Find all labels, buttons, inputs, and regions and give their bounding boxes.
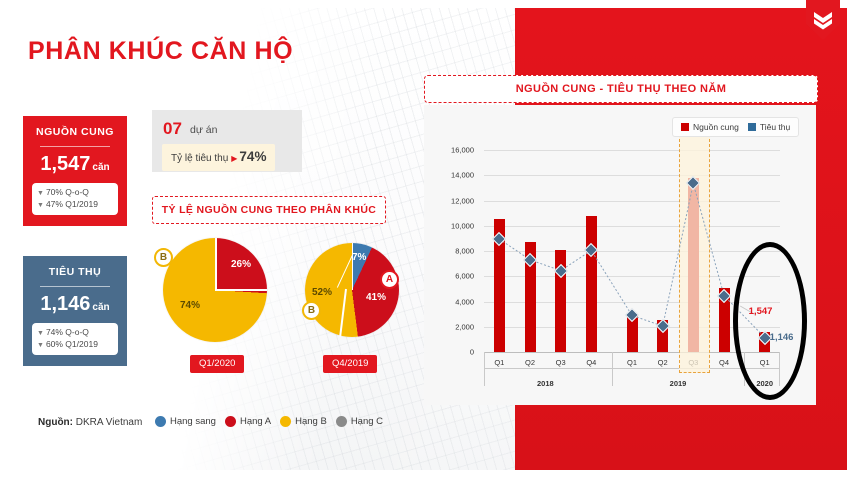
chart-legend: Nguồn cung Tiêu thụ [672, 117, 799, 137]
chart-title: NGUỒN CUNG - TIÊU THỤ THEO NĂM [516, 83, 727, 95]
pie-chart-q1-2020: 26% 74% B Q1/2020 [163, 238, 267, 342]
chart-highlight-band-q3-2019 [679, 134, 710, 373]
chart-x-tick-label: Q2 [525, 358, 535, 367]
legend-label-hang-sang: Hạng sang [170, 416, 216, 427]
segment-section-heading: TỶ LỆ NGUỒN CUNG THEO PHÂN KHÚC [152, 196, 386, 224]
segment-section-heading-text: TỶ LỆ NGUỒN CUNG THEO PHÂN KHÚC [162, 204, 376, 216]
pie-q4-2019-gap-bottom [339, 289, 346, 337]
chart-group-separator [612, 352, 613, 386]
chart-y-tick-label: 16,000 [414, 146, 474, 155]
chart-y-tick-label: 14,000 [414, 171, 474, 180]
supply-card-chips: ▼70% Q-o-Q ▼47% Q1/2019 [32, 183, 118, 215]
shield-logo [806, 0, 840, 40]
pie-q1-2020-badge-b: B [154, 248, 173, 267]
pie-q4-2019-label-hang-a: 41% [366, 292, 386, 303]
stat-card-absorption: TIÊU THỤ 1,146căn ▼74% Q-o-Q ▼60% Q1/201… [23, 256, 127, 366]
chart-y-tick-label: 8,000 [414, 247, 474, 256]
legend-item-hang-sang: Hạng sang [155, 416, 216, 427]
pie-q4-2019-badge-b: B [302, 301, 321, 320]
chart-annotation-supply: 1,547 [749, 306, 773, 317]
pie-chart-q4-2019: 7% 41% 52% A B Q4/2019 [305, 243, 399, 337]
chart-x-tick-label: Q3 [556, 358, 566, 367]
absorption-card-title: TIÊU THỤ [29, 266, 121, 278]
project-count: 07 [163, 119, 182, 139]
down-triangle-icon: ▼ [37, 202, 44, 209]
down-triangle-icon: ▼ [37, 342, 44, 349]
absorption-chip-yoy: ▼60% Q1/2019 [37, 339, 113, 351]
supply-chip-yoy: ▼47% Q1/2019 [37, 199, 113, 211]
chart-plot-area: 02,0004,0006,0008,00010,00012,00014,0001… [484, 150, 780, 352]
absorption-card-unit: căn [92, 302, 109, 313]
chart-gridline [484, 201, 780, 202]
chart-annotation-absorption: 1,146 [770, 332, 794, 343]
legend-label-hang-c: Hạng C [351, 416, 383, 427]
absorption-rate-label: Tỷ lệ tiêu thụ [171, 153, 228, 164]
chart-x-tick-label: Q4 [586, 358, 596, 367]
segment-legend: Hạng sang Hạng A Hạng B Hạng C [155, 416, 383, 427]
supply-card-value: 1,547 [40, 153, 90, 175]
legend-dot-icon [280, 416, 291, 427]
legend-swatch-icon [681, 123, 689, 131]
supply-chip-qoq-label: 70% Q-o-Q [46, 187, 89, 197]
chart-y-tick-label: 6,000 [414, 272, 474, 281]
source-note: Nguồn: DKRA Vietnam [38, 417, 142, 428]
legend-item-hang-b: Hạng B [280, 416, 327, 427]
chart-y-tick-label: 2,000 [414, 322, 474, 331]
supply-card-title: NGUỒN CUNG [29, 126, 121, 138]
stat-card-supply: NGUỒN CUNG 1,547căn ▼70% Q-o-Q ▼47% Q1/2… [23, 116, 127, 226]
pie-q1-2020-slices [163, 238, 267, 342]
supply-card-value-row: 1,547căn [29, 154, 121, 175]
supply-card-unit: căn [92, 162, 109, 173]
legend-dot-icon [336, 416, 347, 427]
left-white-edge [0, 8, 8, 470]
chart-group-label: 2019 [670, 379, 687, 388]
legend-item-hang-a: Hạng A [225, 416, 271, 427]
legend-dot-icon [225, 416, 236, 427]
chart-group-row-divider [484, 368, 780, 369]
down-triangle-icon: ▼ [37, 330, 44, 337]
chart-x-tick-label: Q1 [494, 358, 504, 367]
absorption-card-value: 1,146 [40, 293, 90, 315]
pie-q4-2019-quarter-tag: Q4/2019 [323, 355, 377, 373]
pie-q1-2020-gap-right [215, 289, 267, 291]
chart-y-tick-label: 0 [414, 348, 474, 357]
chart-legend-item-supply: Nguồn cung [681, 122, 739, 132]
absorption-chip-yoy-label: 60% Q1/2019 [46, 339, 98, 349]
chart-bar-supply [586, 216, 597, 352]
pie-q1-2020-label-hang-b: 74% [180, 300, 200, 311]
down-triangle-icon: ▼ [37, 190, 44, 197]
pie-q4-2019-gap-top [352, 243, 354, 290]
source-label: Nguồn: [38, 417, 73, 428]
chart-group-label: 2018 [537, 379, 554, 388]
legend-label-hang-a: Hạng A [240, 416, 271, 427]
slide-canvas: PHÂN KHÚC CĂN HỘ NGUỒN CUNG 1,547căn ▼70… [0, 0, 847, 479]
chart-x-tick-label: Q2 [658, 358, 668, 367]
absorption-rate-value: 74% [239, 149, 266, 164]
supply-chip-qoq: ▼70% Q-o-Q [37, 187, 113, 199]
legend-dot-icon [155, 416, 166, 427]
absorption-chip-qoq-label: 74% Q-o-Q [46, 327, 89, 337]
chart-x-tick-label: Q1 [627, 358, 637, 367]
pie-q4-2019-badge-a: A [380, 270, 399, 289]
pie-q1-2020-label-hang-a: 26% [231, 259, 251, 270]
supply-card-divider [40, 146, 110, 147]
pie-q4-2019-label-hang-sang: 7% [352, 252, 366, 263]
source-value: DKRA Vietnam [76, 417, 143, 428]
absorption-rate-pill: Tỷ lệ tiêu thụ▶74% [162, 144, 275, 171]
bottom-white-edge [0, 470, 847, 479]
play-triangle-icon: ▶ [231, 154, 237, 163]
absorption-chip-qoq: ▼74% Q-o-Q [37, 327, 113, 339]
absorption-card-divider [40, 286, 110, 287]
chart-axis-left-edge [484, 352, 485, 386]
chart-highlight-ellipse-q1-2020 [733, 242, 807, 400]
chart-gridline [484, 150, 780, 151]
top-white-strip [0, 0, 847, 8]
chart-y-tick-label: 10,000 [414, 221, 474, 230]
page-title: PHÂN KHÚC CĂN HỘ [28, 37, 293, 66]
chart-legend-item-absorption: Tiêu thụ [748, 122, 790, 132]
legend-item-hang-c: Hạng C [336, 416, 383, 427]
legend-label-hang-b: Hạng B [295, 416, 327, 427]
legend-swatch-icon [748, 123, 756, 131]
supply-chip-yoy-label: 47% Q1/2019 [46, 199, 98, 209]
chart-title-box: NGUỒN CUNG - TIÊU THỤ THEO NĂM [424, 75, 818, 103]
project-count-label: dự án [190, 124, 217, 136]
chart-legend-label-absorption: Tiêu thụ [760, 122, 790, 132]
chart-gridline [484, 175, 780, 176]
pie-q1-2020-gap-top [215, 238, 217, 290]
absorption-card-chips: ▼74% Q-o-Q ▼60% Q1/2019 [32, 323, 118, 355]
absorption-card-value-row: 1,146căn [29, 294, 121, 315]
chart-x-tick-label: Q4 [719, 358, 729, 367]
chart-legend-label-supply: Nguồn cung [693, 122, 739, 132]
pie-q4-2019-label-hang-b: 52% [312, 287, 332, 298]
chart-gridline [484, 226, 780, 227]
chart-y-tick-label: 4,000 [414, 297, 474, 306]
chart-y-tick-label: 12,000 [414, 196, 474, 205]
pie-q1-2020-quarter-tag: Q1/2020 [190, 355, 244, 373]
